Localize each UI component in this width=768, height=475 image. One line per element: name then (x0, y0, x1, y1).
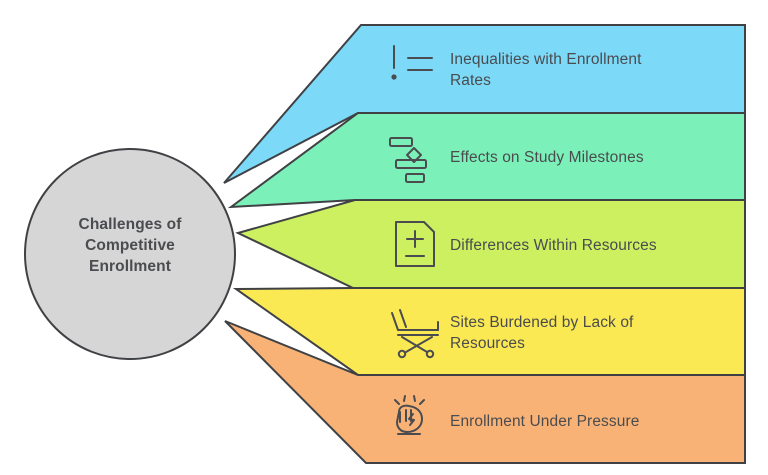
branch-label-5-line1: Enrollment Under Pressure (450, 413, 639, 430)
branch-label-4-line2: Resources (450, 335, 525, 352)
branch-label-1-line1: Inequalities with Enrollment (450, 51, 642, 68)
branch-label-3-line1: Differences Within Resources (450, 237, 657, 254)
branch-label-1-line2: Rates (450, 72, 491, 89)
branch-label-2-line1: Effects on Study Milestones (450, 149, 644, 166)
hub[interactable]: Challenges of Competitive Enrollment (25, 149, 235, 359)
branch-label-4-line1: Sites Burdened by Lack of (450, 314, 634, 331)
hub-label-line2: Competitive (85, 237, 175, 254)
hub-circle[interactable] (25, 149, 235, 359)
diagram-canvas: Inequalities with Enrollment Rates Effec… (0, 0, 768, 475)
diagram-root: Inequalities with Enrollment Rates Effec… (0, 0, 768, 475)
hub-label-line1: Challenges of (79, 216, 183, 233)
hub-label-line3: Enrollment (89, 258, 171, 275)
branch-differences-within-resources[interactable]: Differences Within Resources (238, 200, 745, 288)
